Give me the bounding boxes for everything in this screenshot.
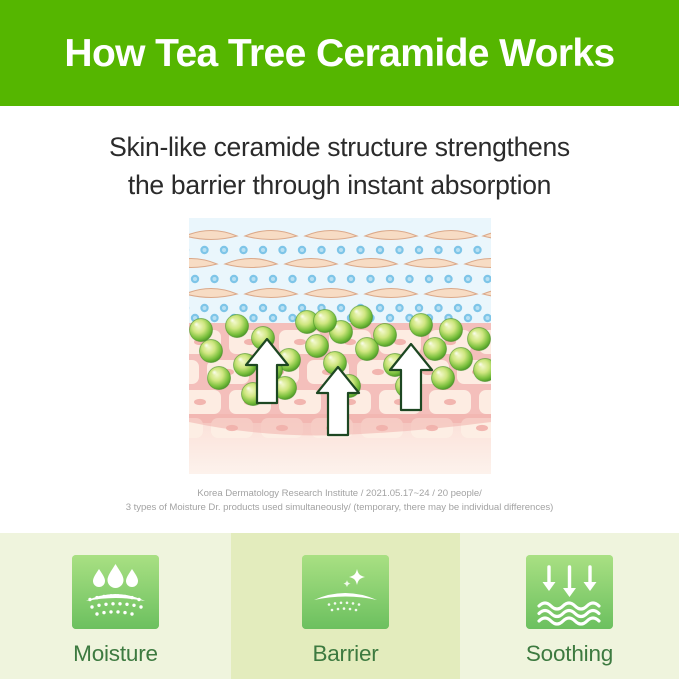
study-caption: Korea Dermatology Research Institute / 2… — [0, 487, 679, 514]
benefit-label-soothing: Soothing — [526, 643, 613, 666]
caption-line-1: Korea Dermatology Research Institute / 2… — [0, 487, 679, 501]
page-header: How Tea Tree Ceramide Works — [0, 0, 679, 106]
illustration-wrap — [0, 218, 679, 474]
skin-cross-section-illustration — [189, 218, 491, 474]
benefits-row: Moisture Barrier — [0, 533, 679, 679]
subtitle-line-2: the barrier through instant absorption — [0, 166, 679, 204]
water-drops-over-skin-icon — [72, 555, 159, 629]
benefit-label-moisture: Moisture — [73, 643, 158, 666]
benefit-barrier[interactable]: Barrier — [231, 533, 460, 679]
page-title: How Tea Tree Ceramide Works — [64, 34, 614, 73]
subtitle-block: Skin-like ceramide structure strengthens… — [0, 106, 679, 204]
benefit-soothing[interactable]: Soothing — [460, 533, 679, 679]
subtitle-line-1: Skin-like ceramide structure strengthens — [0, 128, 679, 166]
skin-cross-section-svg — [189, 218, 491, 474]
down-arrows-over-waves-icon — [526, 555, 613, 629]
benefit-moisture[interactable]: Moisture — [0, 533, 231, 679]
caption-line-2: 3 types of Moisture Dr. products used si… — [0, 501, 679, 515]
benefit-label-barrier: Barrier — [312, 643, 378, 666]
skin-barrier-arc-sparkle-icon — [302, 555, 389, 629]
